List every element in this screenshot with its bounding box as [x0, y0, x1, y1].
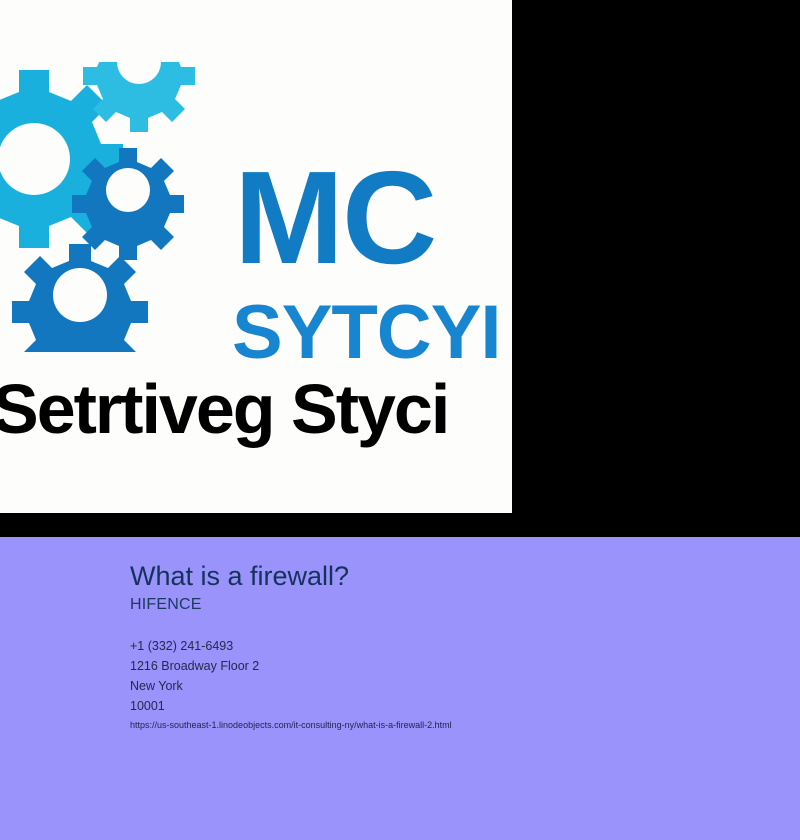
gear-dark-bottom	[12, 244, 148, 352]
contact-zip: 10001	[130, 696, 750, 716]
page-root: MC SYTCYI Setrtiveg Styci What is a fire…	[0, 0, 800, 840]
gears-icon	[0, 62, 224, 352]
brand-name: HIFENCE	[130, 595, 750, 614]
logo-image: MC SYTCYI Setrtiveg Styci	[0, 0, 512, 513]
contact-street: 1216 Broadway Floor 2	[130, 656, 750, 676]
contact-block: +1 (332) 241-6493 1216 Broadway Floor 2 …	[130, 636, 750, 716]
gear-dark-middle	[72, 148, 184, 260]
gear-medium-top	[83, 62, 195, 132]
contact-city: New York	[130, 676, 750, 696]
info-panel: What is a firewall? HIFENCE +1 (332) 241…	[0, 537, 800, 840]
page-title: What is a firewall?	[130, 561, 750, 591]
logo-primary-word: MC	[234, 152, 435, 284]
logo-secondary-word: SYTCYI	[232, 295, 501, 371]
logo-tagline: Setrtiveg Styci	[0, 374, 448, 444]
contact-phone: +1 (332) 241-6493	[130, 636, 750, 656]
source-url[interactable]: https://us-southeast-1.linodeobjects.com…	[130, 719, 750, 732]
info-content: What is a firewall? HIFENCE +1 (332) 241…	[130, 561, 750, 732]
